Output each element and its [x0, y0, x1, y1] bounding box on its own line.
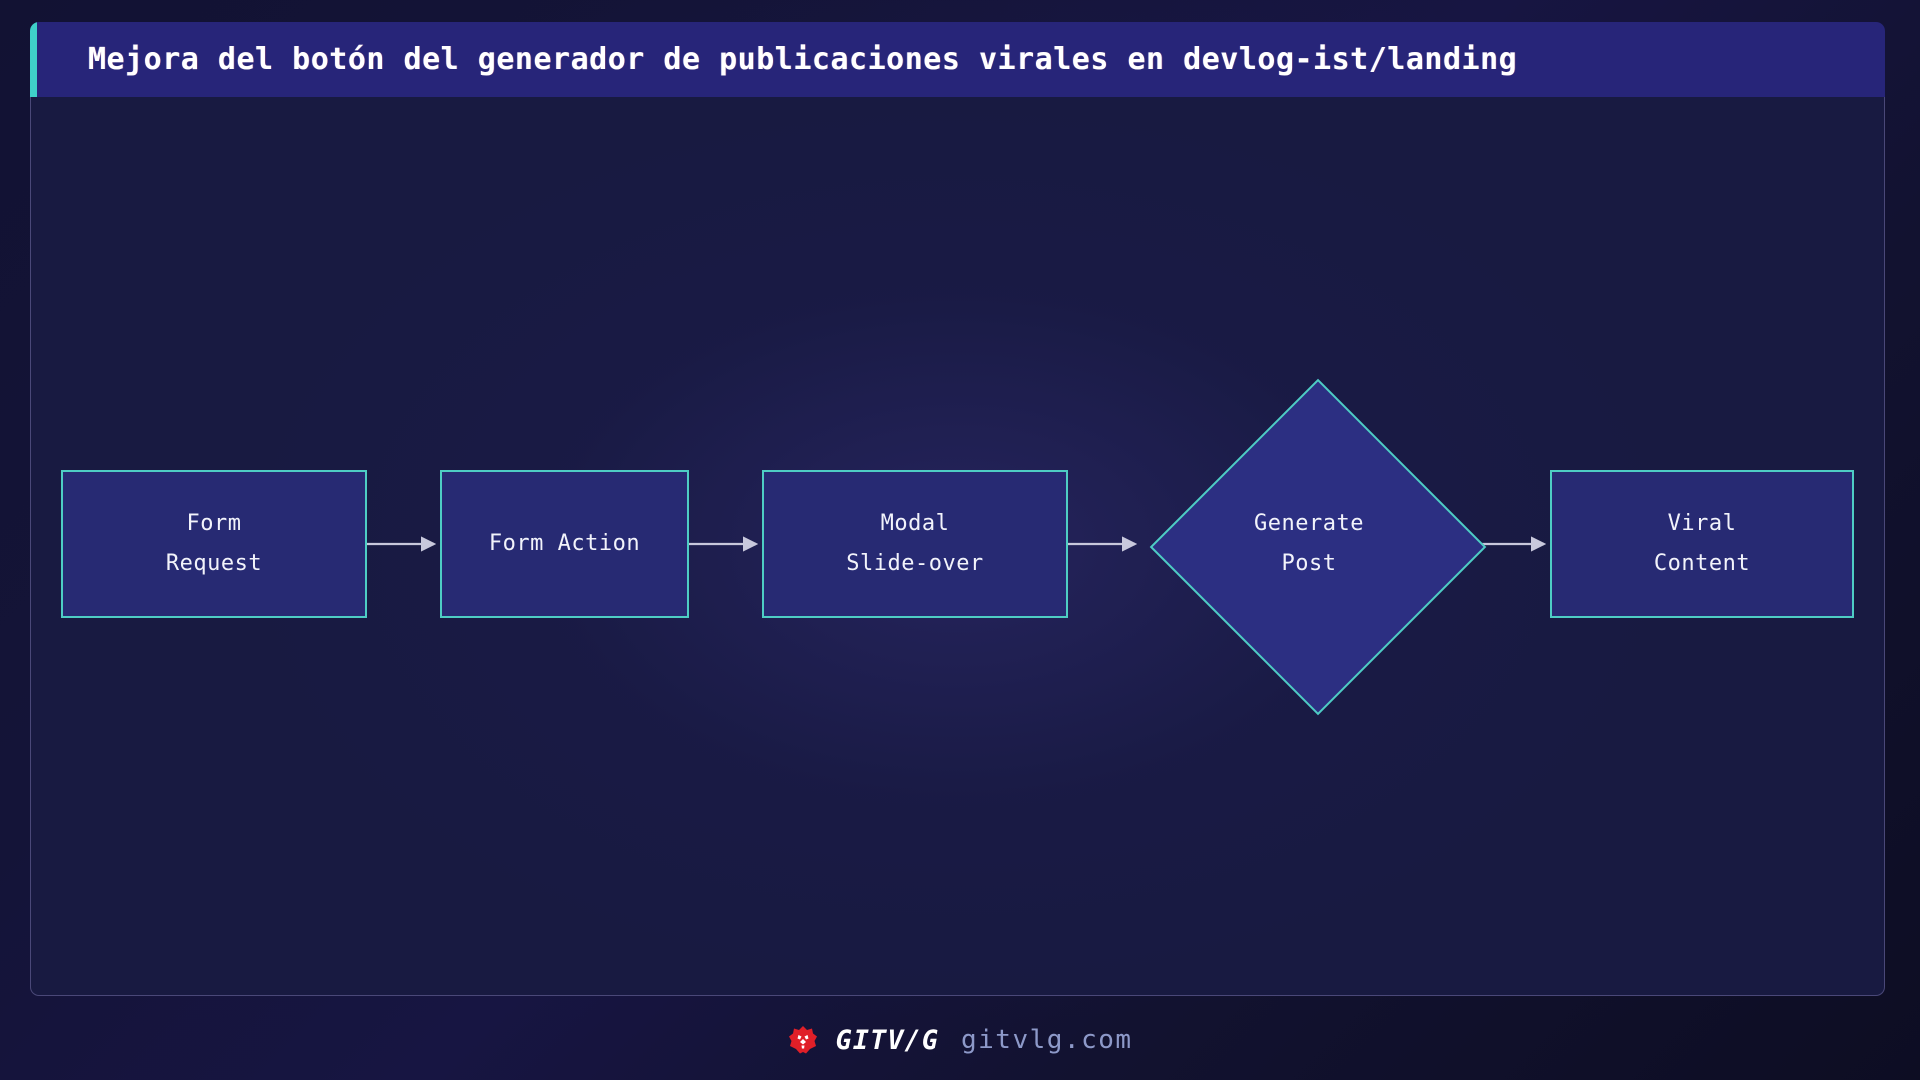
- flowchart: Form Request Form Action Modal Slide-ove…: [31, 97, 1885, 996]
- header-accent-bar: [30, 22, 37, 97]
- node-label-line1: Generate: [1254, 504, 1364, 544]
- node-label-line2: Post: [1282, 544, 1337, 584]
- diagram-panel: Form Request Form Action Modal Slide-ove…: [30, 97, 1885, 996]
- flowchart-node-form-request[interactable]: Form Request: [61, 470, 367, 618]
- flowchart-node-generate-post-label: Generate Post: [1141, 376, 1477, 712]
- lion-logo-icon: [787, 1024, 819, 1056]
- flowchart-node-modal-slide-over[interactable]: Modal Slide-over: [762, 470, 1068, 618]
- node-label-line1: Viral: [1668, 504, 1737, 544]
- flowchart-node-form-action[interactable]: Form Action: [440, 470, 689, 618]
- node-label-line2: Request: [166, 544, 262, 584]
- node-label-line1: Modal: [881, 504, 950, 544]
- footer-brand: GITV/G: [835, 1025, 939, 1056]
- screenshot-root: Mejora del botón del generador de public…: [0, 0, 1920, 1080]
- node-label-line1: Form Action: [489, 524, 640, 564]
- diagram-header: Mejora del botón del generador de public…: [30, 22, 1885, 97]
- flowchart-node-viral-content[interactable]: Viral Content: [1550, 470, 1854, 618]
- node-label-line2: Content: [1654, 544, 1750, 584]
- node-label-line1: Form: [187, 504, 242, 544]
- footer-url: gitvlg.com: [961, 1025, 1133, 1055]
- node-label-line2: Slide-over: [846, 544, 983, 584]
- page-title: Mejora del botón del generador de public…: [88, 22, 1865, 97]
- footer: GITV/G gitvlg.com: [0, 1015, 1920, 1065]
